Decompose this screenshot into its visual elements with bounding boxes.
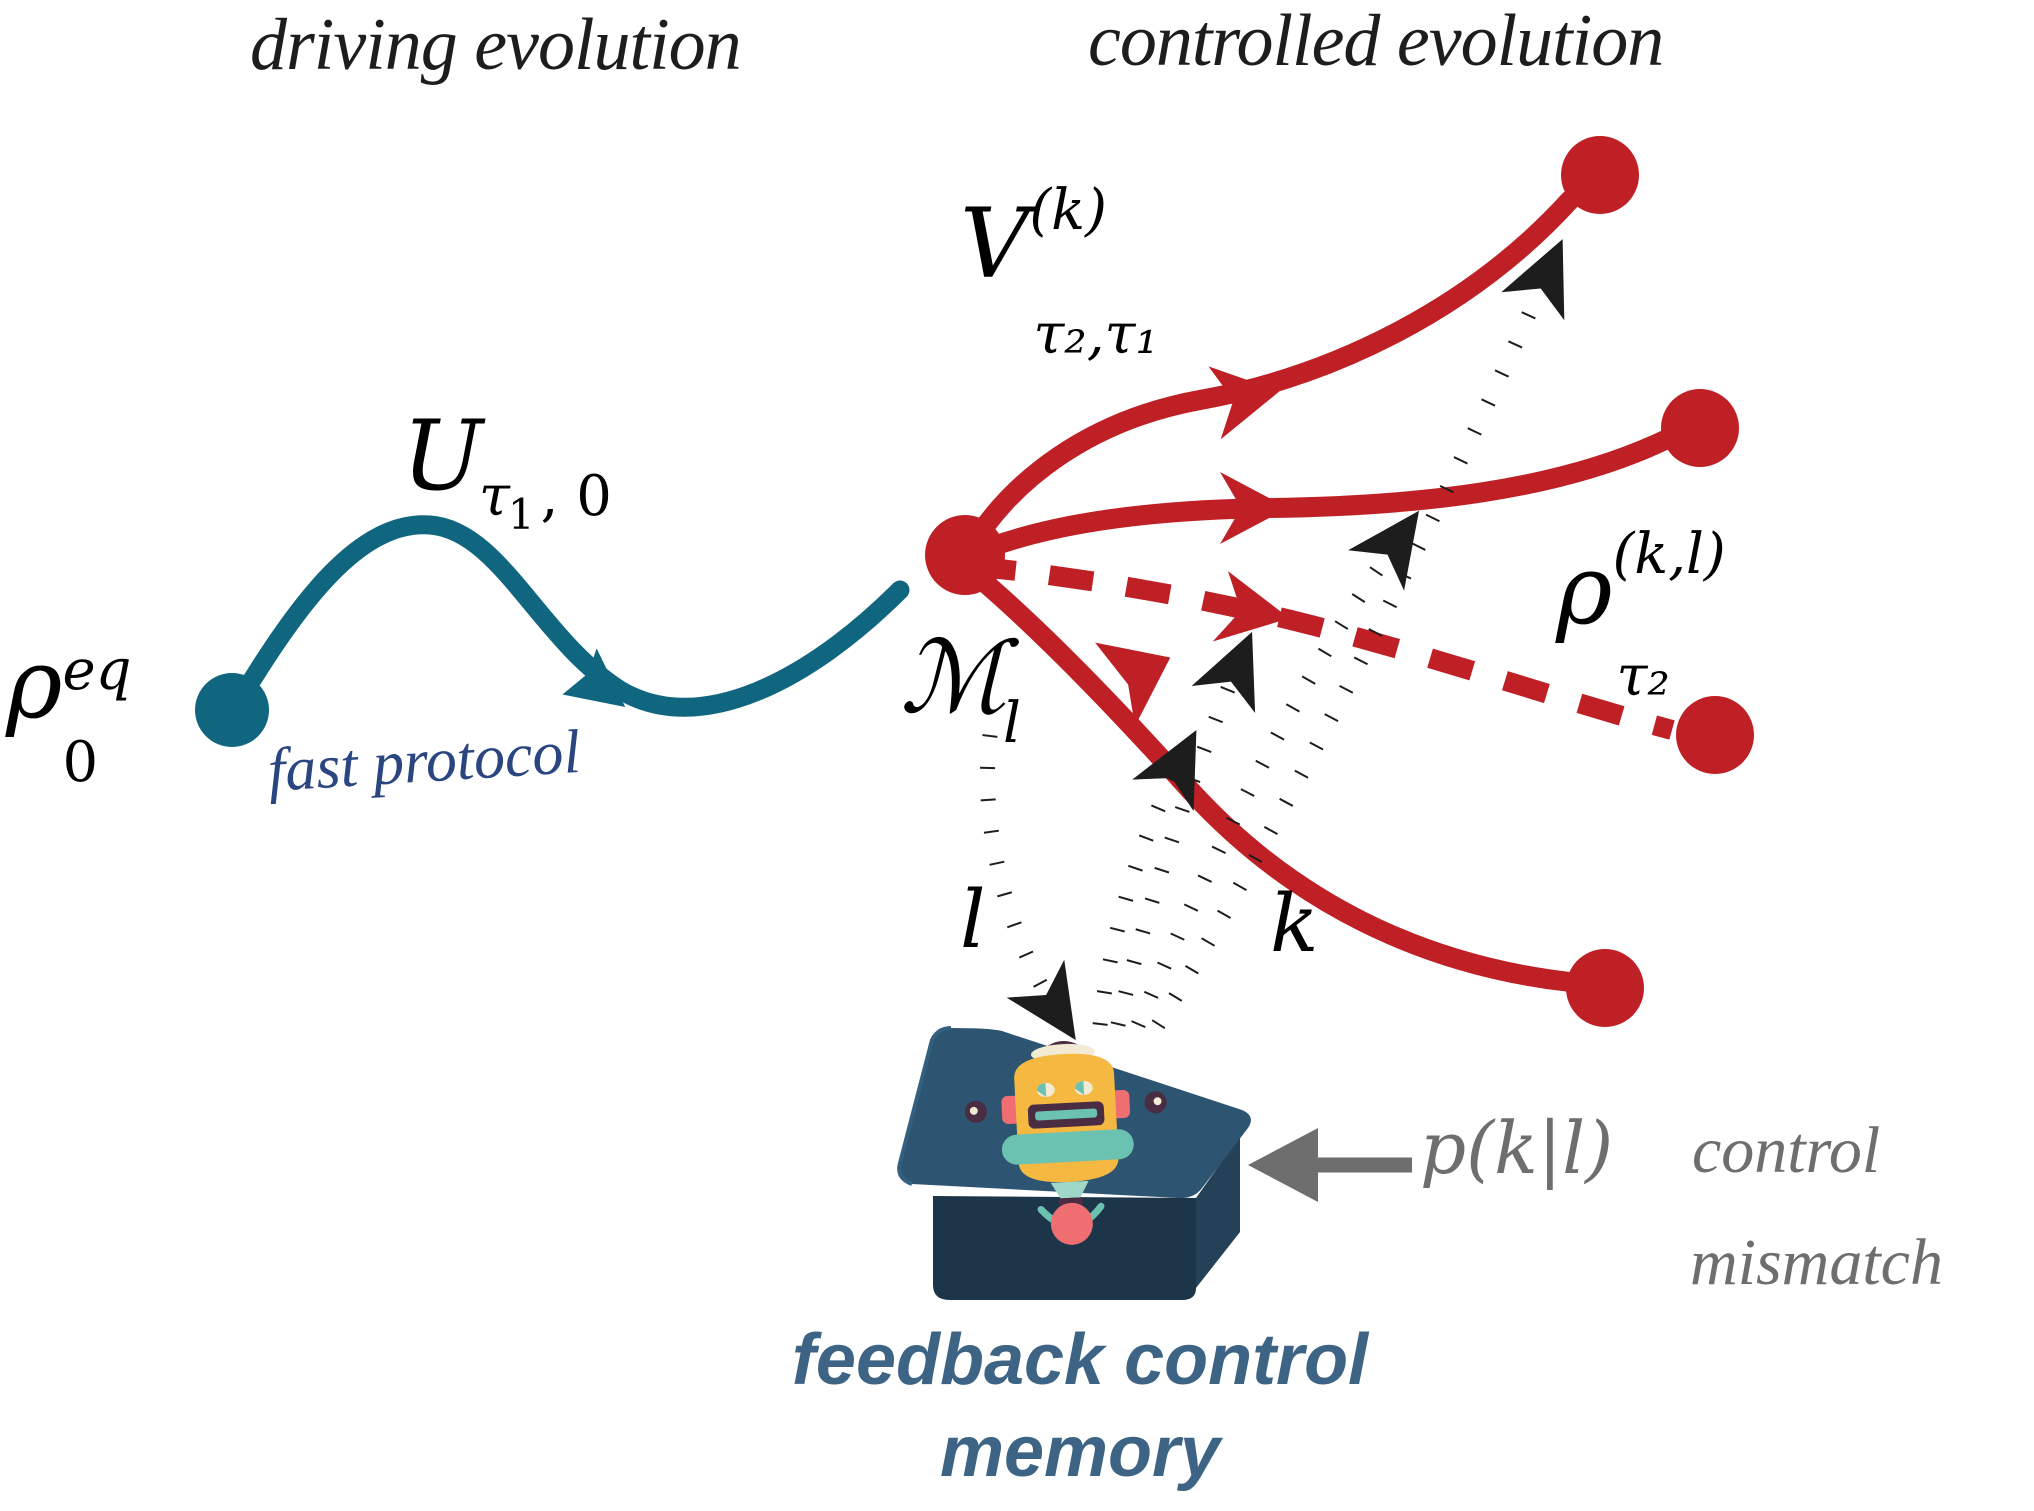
diagram-canvas: driving evolution controlled evolution ρ… (0, 0, 2034, 1511)
rho-final-base: ρ (1556, 534, 1612, 646)
unitary-base: U (402, 400, 483, 512)
control-unitary-sup: (k) (1029, 183, 1107, 239)
rho-final-sub: τ₂ (1616, 649, 1669, 705)
rho-initial-sub: 0 (62, 735, 98, 791)
label-outcome-k: k (1270, 884, 1318, 964)
label-measurement: ℳl (900, 628, 1025, 728)
label-feedback-memory-line2: memory (760, 1410, 1400, 1495)
label-outcome-l: l (960, 880, 986, 960)
label-rho-final: ρ(k,l)τ₂ (1556, 542, 1612, 638)
label-unitary: Uτ1, 0 (402, 408, 612, 504)
rho-initial-sup: eq (62, 643, 131, 699)
measurement-sub: l (1003, 691, 1021, 756)
unitary-sub-tau: τ (479, 464, 510, 529)
unitary-sub-tau-index: 1 (508, 490, 535, 539)
label-mismatch-line2: mismatch (1690, 1222, 1943, 1305)
rho-initial-base: ρ (6, 628, 62, 740)
label-conditional-probability: p(k|l) (1420, 1112, 1613, 1184)
rho-final-sup: (k,l) (1612, 527, 1725, 583)
label-feedback-memory-line1: feedback control (760, 1318, 1400, 1403)
control-unitary-sub: τ₂,τ₁ (1033, 307, 1158, 363)
label-control-unitary: V(k)τ₂,τ₁ (960, 196, 1029, 292)
unitary-sub-rest: , 0 (541, 464, 612, 529)
title-controlled-evolution: controlled evolution (1088, 4, 1663, 78)
title-driving-evolution: driving evolution (250, 8, 741, 82)
label-mismatch-line1: control (1692, 1110, 1880, 1193)
control-unitary-base: V (960, 188, 1029, 300)
label-rho-initial: ρeq0 (6, 636, 62, 732)
measurement-base: ℳ (900, 619, 1007, 736)
